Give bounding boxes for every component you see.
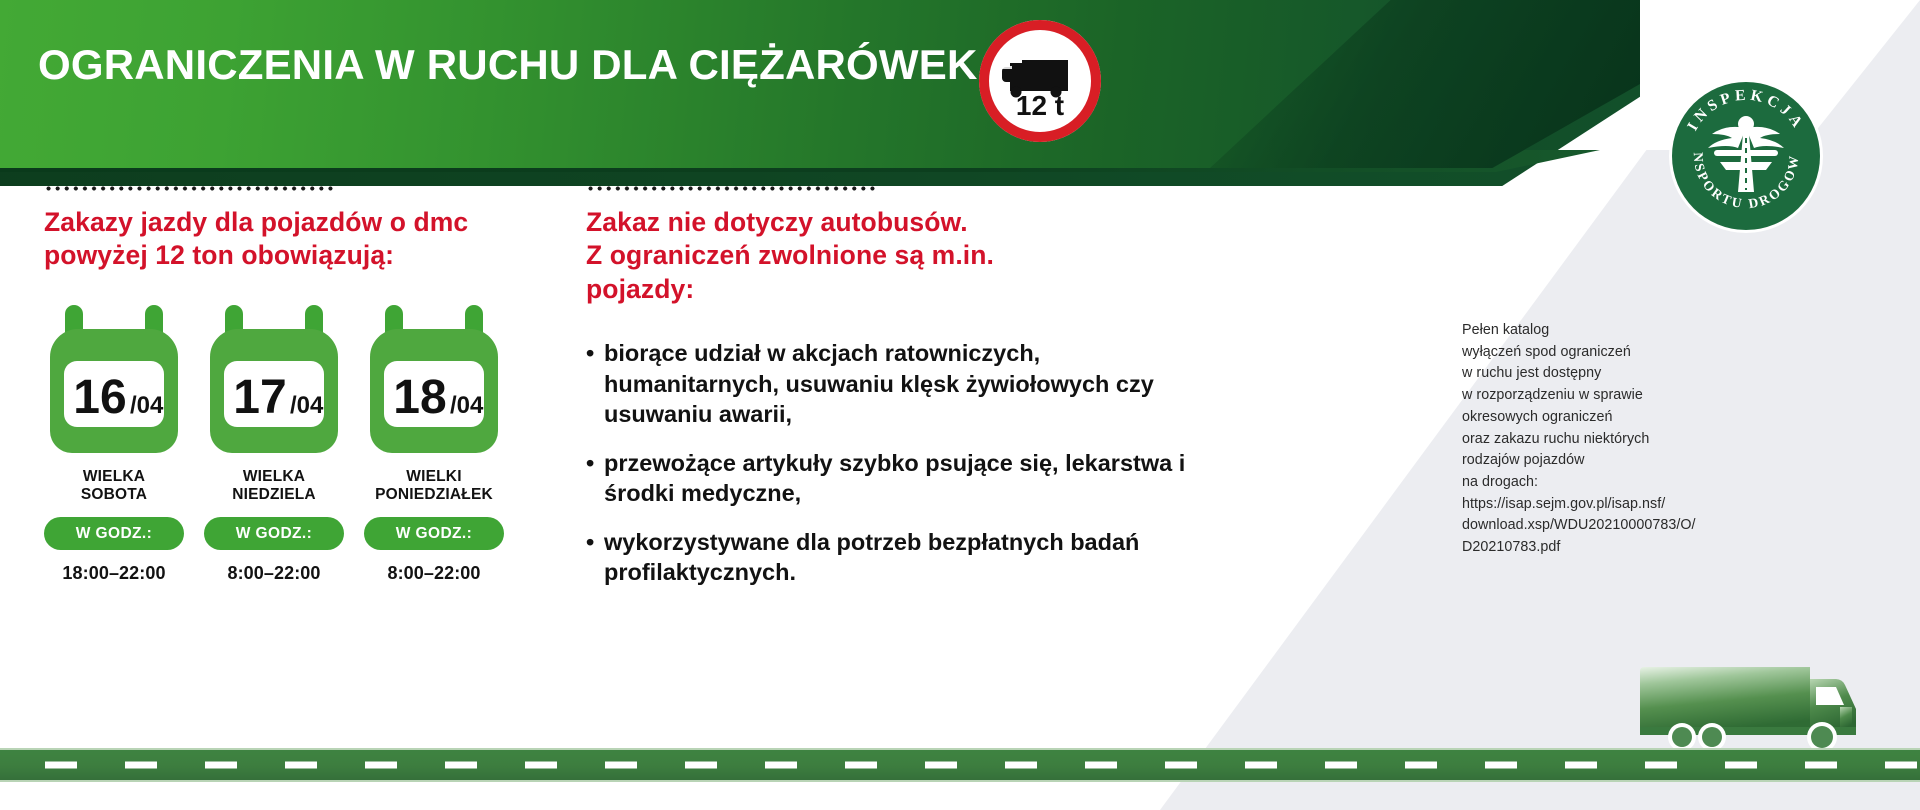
middle-heading-line1: Zakaz nie dotyczy autobusów. [586,206,1186,239]
hours-value: 8:00–22:00 [364,563,504,584]
calendar-day-number: 18 [393,371,446,424]
note-line: oraz zakazu ruchu niektórych [1462,429,1792,451]
note-url-line[interactable]: D20210783.pdf [1462,537,1792,559]
note-line: rodzajów pojazdów [1462,450,1792,472]
calendar-day-label-line2: SOBOTA [44,486,184,504]
left-heading-line2: powyżej 12 ton obowiązują: [44,239,574,272]
calendar-item: 17 /04 WIELKA NIEDZIELA W GODZ.: 8:00–22… [204,299,344,585]
note-line: Pełen katalog [1462,320,1792,342]
middle-heading-line3: pojazdy: [586,273,1186,306]
regulation-note: Pełen katalog wyłączeń spod ograniczeń w… [1462,320,1792,559]
note-line: wyłączeń spod ograniczeń [1462,342,1792,364]
calendar-day-label-line1: WIELKA [204,468,344,486]
note-line: w ruchu jest dostępny [1462,363,1792,385]
list-item: • przewożące artykuły szybko psujące się… [586,448,1186,509]
left-heading: Zakazy jazdy dla pojazdów o dmc powyżej … [44,206,574,273]
list-item-text: biorące udział w akcjach ratowniczych, h… [604,338,1186,430]
list-item-text: przewożące artykuły szybko psujące się, … [604,448,1186,509]
header-dark-wedge [1210,0,1640,168]
hours-value: 8:00–22:00 [204,563,344,584]
bullet-icon: • [586,448,604,509]
dotted-divider-middle [586,178,876,192]
note-line: okresowych ograniczeń [1462,407,1792,429]
calendar-day-label-line2: PONIEDZIAŁEK [364,486,504,504]
middle-heading-line2: Z ograniczeń zwolnione są m.in. [586,239,1186,272]
truck-weight-limit-sign-icon: 12 t [978,19,1102,143]
middle-column: Zakaz nie dotyczy autobusów. Z ogranicze… [586,178,1186,606]
note-url-line[interactable]: download.xsp/WDU20210000783/O/ [1462,515,1792,537]
calendar-item: 16 /04 WIELKA SOBOTA W GODZ.: 18:00–22:0… [44,299,184,585]
calendar-icon: 16 /04 [44,299,184,459]
hours-badge: W GODZ.: [204,517,344,550]
right-note-column: Pełen katalog wyłączeń spod ograniczeń w… [1462,320,1792,559]
calendar-month: /04 [290,392,324,419]
exemptions-list: • biorące udział w akcjach ratowniczych,… [586,338,1186,588]
road-dashes [0,762,1920,769]
calendar-icon: 18 /04 [364,299,504,459]
calendar-day-label-line1: WIELKI [364,468,504,486]
hours-badge: W GODZ.: [44,517,184,550]
calendar-day-label: WIELKI PONIEDZIAŁEK [364,468,504,505]
middle-heading: Zakaz nie dotyczy autobusów. Z ogranicze… [586,206,1186,306]
bullet-icon: • [586,338,604,430]
hours-value: 18:00–22:00 [44,563,184,584]
bottom-road-strip [0,748,1920,782]
list-item: • biorące udział w akcjach ratowniczych,… [586,338,1186,430]
calendar-item: 18 /04 WIELKI PONIEDZIAŁEK W GODZ.: 8:00… [364,299,504,585]
calendar-day-number: 17 [233,371,286,424]
left-heading-line1: Zakazy jazdy dla pojazdów o dmc [44,206,574,239]
page-title: OGRANICZENIA W RUCHU DLA CIĘŻARÓWEK [38,44,978,86]
calendar-day-number: 16 [73,371,126,424]
note-line: na drogach: [1462,472,1792,494]
note-line: w rozporządzeniu w sprawie [1462,385,1792,407]
calendar-day-label: WIELKA NIEDZIELA [204,468,344,505]
note-url-line[interactable]: https://isap.sejm.gov.pl/isap.nsf/ [1462,494,1792,516]
calendar-icon: 17 /04 [204,299,344,459]
calendar-month: /04 [130,392,164,419]
bullet-icon: • [586,527,604,588]
hours-badge: W GODZ.: [364,517,504,550]
calendar-month: /04 [450,392,484,419]
calendar-day-label-line1: WIELKA [44,468,184,486]
calendar-day-label-line2: NIEDZIELA [204,486,344,504]
list-item-text: wykorzystywane dla potrzeb bezpłatnych b… [604,527,1186,588]
header-banner [0,0,1640,186]
list-item: • wykorzystywane dla potrzeb bezpłatnych… [586,527,1186,588]
sign-weight-label: 12 t [1016,90,1064,121]
dotted-divider-left [44,178,334,192]
calendar-day-label: WIELKA SOBOTA [44,468,184,505]
calendar-row: 16 /04 WIELKA SOBOTA W GODZ.: 18:00–22:0… [44,299,574,585]
itd-logo: INSPEKCJA TRANSPORTU DROGOWEGO [1668,78,1824,234]
infographic-poster: OGRANICZENIA W RUCHU DLA CIĘŻARÓWEK 12 t [0,0,1920,810]
left-column: Zakazy jazdy dla pojazdów o dmc powyżej … [44,178,574,584]
